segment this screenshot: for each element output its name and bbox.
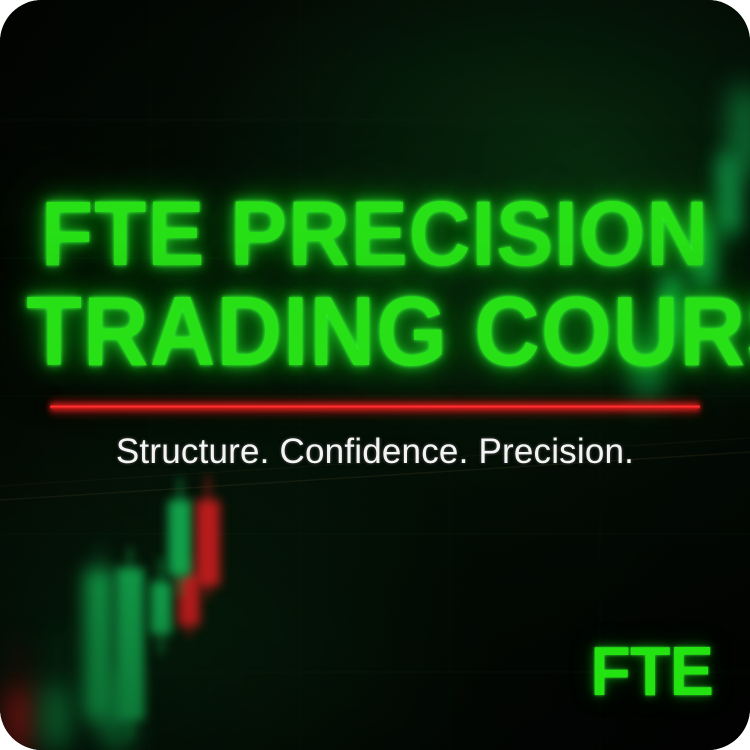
headline-line-1: FTE PRECISION [26, 186, 724, 283]
headline-line-2: TRADING COURSE [26, 283, 724, 380]
tagline: Structure. Confidence. Precision. [0, 432, 750, 472]
poster-canvas: FTE PRECISION TRADING COURSE Structure. … [0, 0, 750, 750]
headline-block: FTE PRECISION TRADING COURSE [0, 186, 750, 380]
divider-core [50, 405, 700, 409]
fte-logo: FTE [590, 636, 713, 706]
red-divider [50, 404, 700, 410]
